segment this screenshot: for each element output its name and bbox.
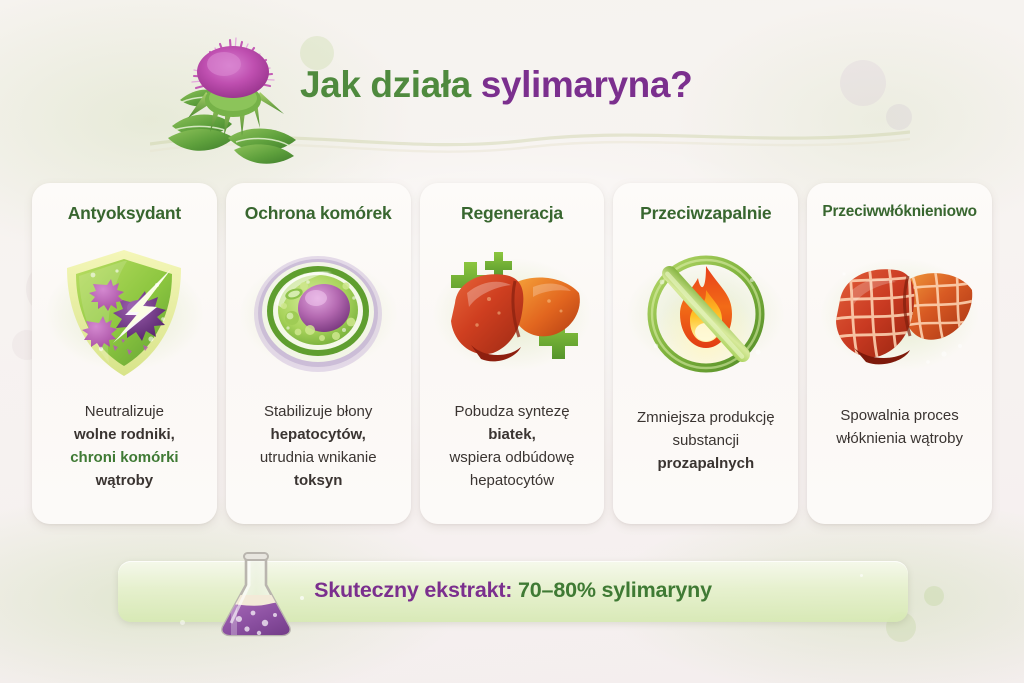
card-przeciwwloknieniowo[interactable]: Przeciwwłóknieniowo [807,183,992,524]
card-title: Ochrona komórek [226,203,411,224]
fibrotic-liver-icon [824,250,976,376]
card-line: wspiera odbúdowę [428,447,597,470]
card-line: Zmniejsza produkcję [621,407,790,430]
banner-value-green: 70–80% sylimaryny [518,578,712,602]
card-line: Stabilizuje błony [234,401,403,424]
infographic-canvas: Jak działa sylimaryna? Antyoksydant [0,0,1024,683]
card-body: Spowalnia proces włóknienia wątroby [815,405,984,451]
card-title: Przeciwwłóknieniowo [807,203,992,221]
card-title: Przeciwzapalnie [613,203,798,224]
cell-membrane-nucleus-icon [248,246,388,380]
card-line: prozapalnych [621,453,790,476]
card-regeneracja[interactable]: Regeneracja [420,183,605,524]
card-icon-wrap [32,235,217,390]
card-line: toksyn [234,470,403,493]
header: Jak działa sylimaryna? [0,0,1024,170]
card-line: Pobudza syntezę [428,401,597,424]
card-title: Regeneracja [420,203,605,224]
card-line: utrudnia wnikanie [234,447,403,470]
card-line: wolne rodniki, [40,424,209,447]
card-antyoksydant[interactable]: Antyoksydant [32,183,217,524]
liver-with-plus-signs-icon [437,247,587,379]
card-line: hepatocytów, [234,424,403,447]
card-line: Neutralizuje [40,401,209,424]
title-purple-part: sylimaryna? [481,64,693,105]
card-icon-wrap [807,235,992,390]
shield-with-free-radicals-icon [57,245,191,381]
card-line: hepatocytów [428,470,597,493]
card-ochrona-komorek[interactable]: Ochrona komórek [226,183,411,524]
card-icon-wrap [226,235,411,390]
banner-label-purple: Skuteczny ekstrakt: [314,578,518,602]
card-line: włóknienia wątroby [815,428,984,451]
page-title: Jak działa sylimaryna? [300,64,860,116]
benefit-cards-row: Antyoksydant [32,183,992,524]
card-body: Neutralizuje wolne rodniki, chroni komór… [40,401,209,493]
no-flame-inflammation-icon [636,246,776,380]
milk-thistle-flower-icon [160,26,305,174]
card-line: wątroby [40,470,209,493]
card-title: Antyoksydant [32,203,217,224]
card-line: chroni komórki [40,447,209,470]
card-body: Pobudza syntezę biatek, wspiera odbúdowę… [428,401,597,493]
card-line: Spowalnia proces [815,405,984,428]
background-blob [924,586,944,606]
card-line: substancji [621,430,790,453]
card-body: Zmniejsza produkcję substancji prozapaln… [621,407,790,476]
title-green-part: Jak działa [300,64,481,105]
card-przeciwzapalnie[interactable]: Przeciwzapalnie [613,183,798,524]
card-icon-wrap [613,235,798,390]
card-line: biatek, [428,424,597,447]
card-icon-wrap [420,235,605,390]
card-body: Stabilizuje błony hepatocytów, utrudnia … [234,401,403,493]
erlenmeyer-flask-icon [213,547,299,639]
